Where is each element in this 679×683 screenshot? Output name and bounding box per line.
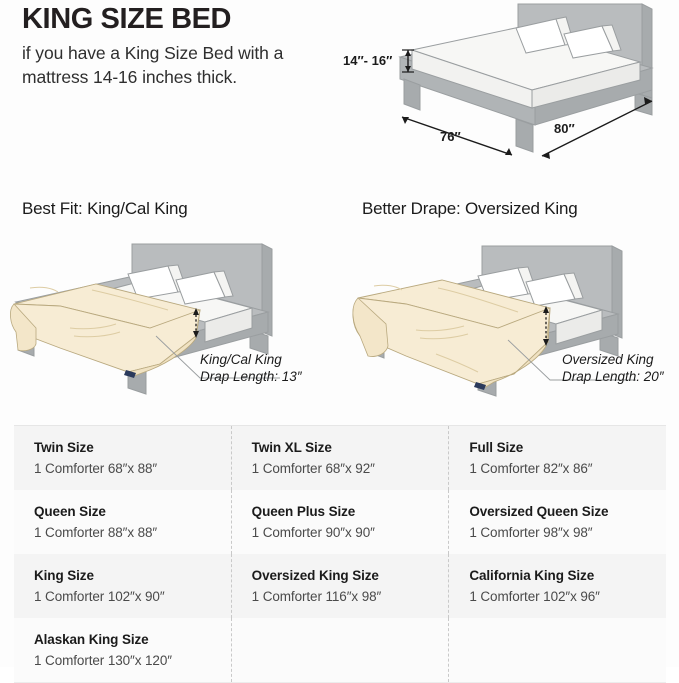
cell-subtitle: 1 Comforter 102″x 96″ [469,588,666,606]
cell-title: Full Size [469,439,666,457]
annotation-line-1: Oversized King [562,352,664,369]
table-cell: Twin Size 1 Comforter 68″x 88″ [14,426,231,490]
annotation-line-2: Drap Length: 13″ [200,369,302,386]
section-heading-better-drape: Better Drape: Oversized King [362,199,578,219]
king-cal-king-drape-diagram [0,232,345,422]
page-subtitle: if you have a King Size Bed with a mattr… [22,42,322,88]
table-row: Twin Size 1 Comforter 68″x 88″ Twin XL S… [14,426,666,490]
page-title: KING SIZE BED [22,4,322,34]
cell-title: Queen Plus Size [252,503,449,521]
cell-subtitle: 1 Comforter 98″x 98″ [469,524,666,542]
cell-title: Twin Size [34,439,231,457]
cell-title: Oversized King Size [252,567,449,585]
table-cell: Twin XL Size 1 Comforter 68″x 92″ [231,426,449,490]
infographic-page: KING SIZE BED if you have a King Size Be… [0,0,679,667]
king-bed-dimension-diagram [330,0,679,182]
table-cell: King Size 1 Comforter 102″x 90″ [14,554,231,618]
cell-subtitle: 1 Comforter 88″x 88″ [34,524,231,542]
king-cal-king-annotation: King/Cal King Drap Length: 13″ [200,352,302,386]
table-cell: Oversized King Size 1 Comforter 116″x 98… [231,554,449,618]
bed-width-label: 76″ [440,129,461,144]
cell-subtitle: 1 Comforter 90″x 90″ [252,524,449,542]
cell-subtitle: 1 Comforter 68″x 92″ [252,460,449,478]
table-row: King Size 1 Comforter 102″x 90″ Oversize… [14,554,666,618]
bed-length-label: 80″ [554,121,575,136]
cell-subtitle: 1 Comforter 68″x 88″ [34,460,231,478]
table-cell: Oversized Queen Size 1 Comforter 98″x 98… [448,490,666,554]
annotation-line-2: Drap Length: 20″ [562,369,664,386]
cell-title: Oversized Queen Size [469,503,666,521]
table-cell: Queen Plus Size 1 Comforter 90″x 90″ [231,490,449,554]
cell-title: Queen Size [34,503,231,521]
cell-subtitle: 1 Comforter 82″x 86″ [469,460,666,478]
cell-title: King Size [34,567,231,585]
cell-subtitle: 1 Comforter 116″x 98″ [252,588,449,606]
oversized-king-annotation: Oversized King Drap Length: 20″ [562,352,664,386]
mattress-thickness-label: 14″- 16″ [343,53,392,68]
section-heading-best-fit: Best Fit: King/Cal King [22,199,187,219]
oversized-king-drape-diagram [336,232,679,422]
table-cell-empty [231,618,449,682]
table-cell: Alaskan King Size 1 Comforter 130″x 120″ [14,618,231,682]
cell-title: Twin XL Size [252,439,449,457]
table-row: Alaskan King Size 1 Comforter 130″x 120″ [14,618,666,682]
cell-subtitle: 1 Comforter 102″x 90″ [34,588,231,606]
table-cell: Queen Size 1 Comforter 88″x 88″ [14,490,231,554]
table-cell: California King Size 1 Comforter 102″x 9… [448,554,666,618]
cell-title: California King Size [469,567,666,585]
table-row: Queen Size 1 Comforter 88″x 88″ Queen Pl… [14,490,666,554]
cell-title: Alaskan King Size [34,631,231,649]
table-cell: Full Size 1 Comforter 82″x 86″ [448,426,666,490]
table-cell-empty [448,618,666,682]
annotation-line-1: King/Cal King [200,352,302,369]
header-block: KING SIZE BED if you have a King Size Be… [22,4,322,89]
comforter-size-table: Twin Size 1 Comforter 68″x 88″ Twin XL S… [14,425,666,683]
